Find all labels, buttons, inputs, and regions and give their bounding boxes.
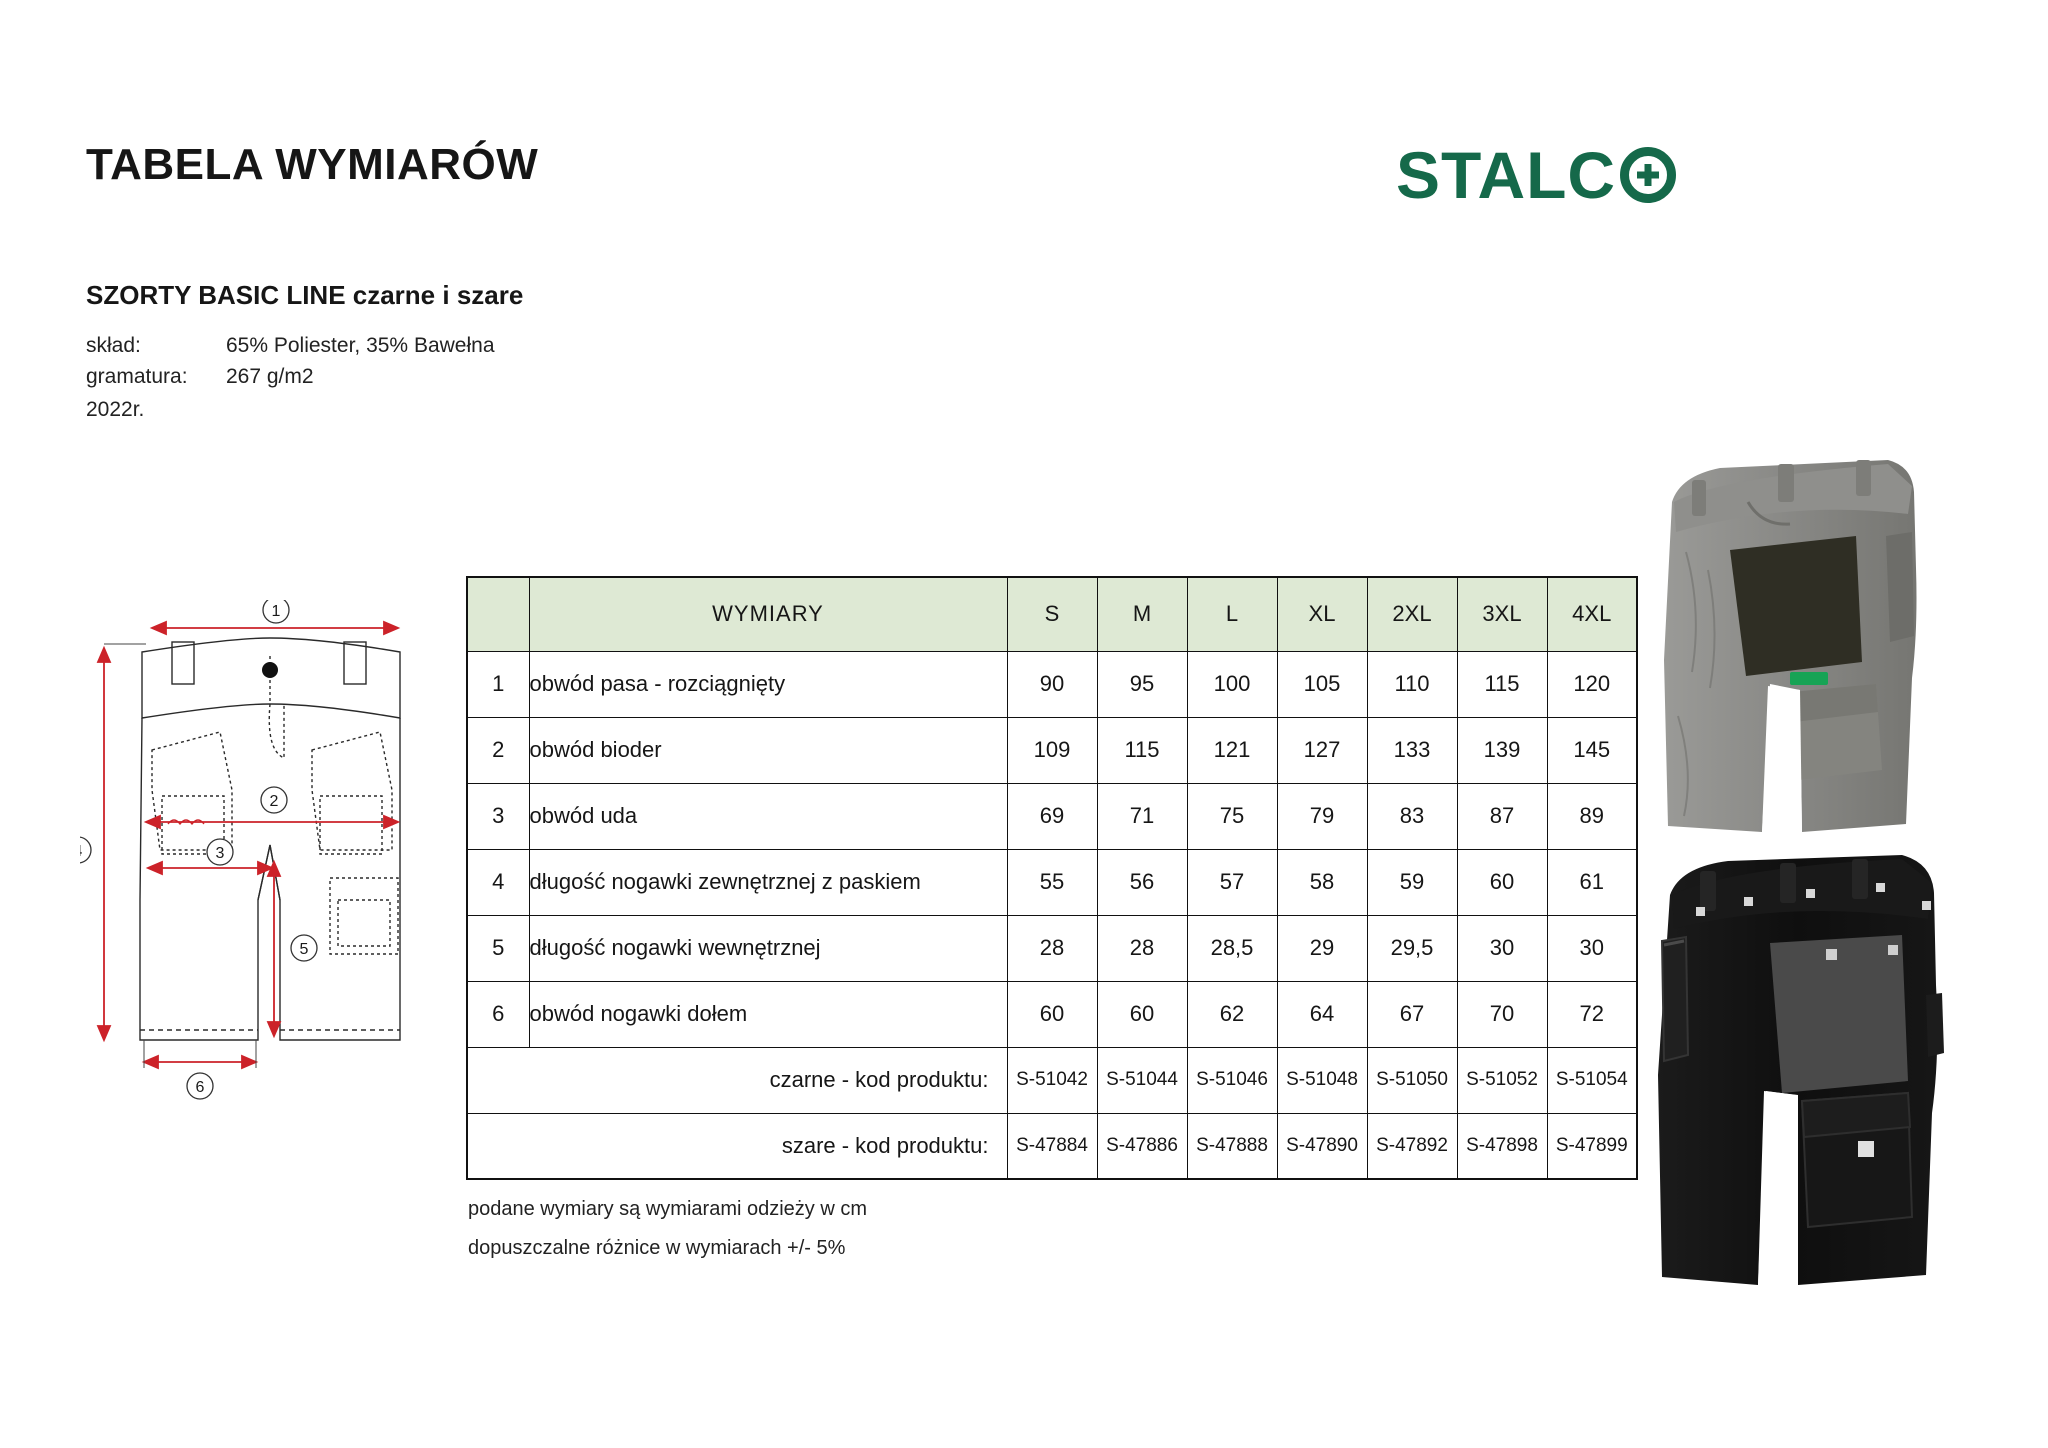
cell-xl: 127 bbox=[1277, 717, 1367, 783]
cell-3xl: 87 bbox=[1457, 783, 1547, 849]
cell-xl: 79 bbox=[1277, 783, 1367, 849]
cell-3xl: 139 bbox=[1457, 717, 1547, 783]
code-cell-l: S-47888 bbox=[1187, 1113, 1277, 1179]
row-description: obwód pasa - rozciągnięty bbox=[529, 651, 1007, 717]
cell-4xl: 120 bbox=[1547, 651, 1637, 717]
cell-m: 71 bbox=[1097, 783, 1187, 849]
cell-3xl: 70 bbox=[1457, 981, 1547, 1047]
callout-3: 3 bbox=[216, 845, 225, 862]
cell-xl: 29 bbox=[1277, 915, 1367, 981]
cell-4xl: 30 bbox=[1547, 915, 1637, 981]
cell-2xl: 110 bbox=[1367, 651, 1457, 717]
cell-xl: 58 bbox=[1277, 849, 1367, 915]
cell-2xl: 67 bbox=[1367, 981, 1457, 1047]
code-cell-s: S-47884 bbox=[1007, 1113, 1097, 1179]
footnote-tolerance: dopuszczalne różnice w wymiarach +/- 5% bbox=[468, 1229, 867, 1268]
cell-3xl: 60 bbox=[1457, 849, 1547, 915]
spec-value-year: 2022r. bbox=[86, 394, 144, 425]
cell-xl: 64 bbox=[1277, 981, 1367, 1047]
footnote-units: podane wymiary są wymiarami odzieży w cm bbox=[468, 1190, 867, 1229]
callout-6: 6 bbox=[196, 1079, 205, 1096]
size-table-head: WYMIARY S M L XL 2XL 3XL 4XL bbox=[467, 577, 1637, 651]
row-index: 1 bbox=[467, 651, 529, 717]
cell-2xl: 29,5 bbox=[1367, 915, 1457, 981]
product-code-row-gray: szare - kod produktu: S-47884 S-47886 S-… bbox=[467, 1113, 1637, 1179]
cell-m: 56 bbox=[1097, 849, 1187, 915]
row-description: obwód nogawki dołem bbox=[529, 981, 1007, 1047]
code-cell-3xl: S-51052 bbox=[1457, 1047, 1547, 1113]
row-description: długość nogawki zewnętrznej z paskiem bbox=[529, 849, 1007, 915]
logo-wordmark: STALC bbox=[1396, 142, 1616, 208]
code-cell-l: S-51046 bbox=[1187, 1047, 1277, 1113]
cell-2xl: 59 bbox=[1367, 849, 1457, 915]
table-row: 4 długość nogawki zewnętrznej z paskiem … bbox=[467, 849, 1637, 915]
spec-row-composition: skład: 65% Poliester, 35% Bawełna bbox=[86, 330, 495, 361]
header-cell-xl: XL bbox=[1277, 577, 1367, 651]
spec-label-composition: skład: bbox=[86, 330, 226, 361]
cell-m: 28 bbox=[1097, 915, 1187, 981]
code-cell-2xl: S-51050 bbox=[1367, 1047, 1457, 1113]
cell-s: 60 bbox=[1007, 981, 1097, 1047]
code-cell-xl: S-51048 bbox=[1277, 1047, 1367, 1113]
product-spec-list: skład: 65% Poliester, 35% Bawełna gramat… bbox=[86, 330, 495, 425]
row-index: 5 bbox=[467, 915, 529, 981]
cell-4xl: 61 bbox=[1547, 849, 1637, 915]
code-cell-m: S-47886 bbox=[1097, 1113, 1187, 1179]
table-row: 2 obwód bioder 109 115 121 127 133 139 1… bbox=[467, 717, 1637, 783]
code-cell-s: S-51042 bbox=[1007, 1047, 1097, 1113]
row-index: 4 bbox=[467, 849, 529, 915]
stalco-logo: STALC bbox=[1396, 142, 1676, 208]
cell-3xl: 30 bbox=[1457, 915, 1547, 981]
cell-l: 62 bbox=[1187, 981, 1277, 1047]
row-description: długość nogawki wewnętrznej bbox=[529, 915, 1007, 981]
spec-row-weight: gramatura: 267 g/m2 bbox=[86, 361, 495, 392]
code-row-label: szare - kod produktu: bbox=[467, 1113, 1007, 1179]
cell-m: 95 bbox=[1097, 651, 1187, 717]
header-cell-4xl: 4XL bbox=[1547, 577, 1637, 651]
code-cell-2xl: S-47892 bbox=[1367, 1113, 1457, 1179]
table-header-row: WYMIARY S M L XL 2XL 3XL 4XL bbox=[467, 577, 1637, 651]
table-row: 1 obwód pasa - rozciągnięty 90 95 100 10… bbox=[467, 651, 1637, 717]
row-index: 6 bbox=[467, 981, 529, 1047]
spec-value-weight: 267 g/m2 bbox=[226, 361, 314, 392]
size-table: WYMIARY S M L XL 2XL 3XL 4XL 1 obwód pas… bbox=[466, 576, 1638, 1180]
cell-l: 121 bbox=[1187, 717, 1277, 783]
cell-4xl: 89 bbox=[1547, 783, 1637, 849]
cell-s: 109 bbox=[1007, 717, 1097, 783]
callout-4: 4 bbox=[80, 843, 83, 860]
footnotes: podane wymiary są wymiarami odzieży w cm… bbox=[468, 1190, 867, 1268]
sizing-chart-page: TABELA WYMIARÓW SZORTY BASIC LINE czarne… bbox=[0, 0, 2048, 1448]
row-description: obwód uda bbox=[529, 783, 1007, 849]
table-row: 3 obwód uda 69 71 75 79 83 87 89 bbox=[467, 783, 1637, 849]
cell-2xl: 133 bbox=[1367, 717, 1457, 783]
product-title: SZORTY BASIC LINE czarne i szare bbox=[86, 280, 523, 311]
spec-label-weight: gramatura: bbox=[86, 361, 226, 392]
code-cell-3xl: S-47898 bbox=[1457, 1113, 1547, 1179]
code-cell-xl: S-47890 bbox=[1277, 1113, 1367, 1179]
header-cell-l: L bbox=[1187, 577, 1277, 651]
cell-l: 28,5 bbox=[1187, 915, 1277, 981]
header-cell-2xl: 2XL bbox=[1367, 577, 1457, 651]
cell-m: 60 bbox=[1097, 981, 1187, 1047]
code-cell-m: S-51044 bbox=[1097, 1047, 1187, 1113]
cell-s: 55 bbox=[1007, 849, 1097, 915]
spec-value-composition: 65% Poliester, 35% Bawełna bbox=[226, 330, 495, 361]
product-photo-black-shorts bbox=[1640, 845, 2000, 1305]
row-index: 3 bbox=[467, 783, 529, 849]
cell-l: 75 bbox=[1187, 783, 1277, 849]
product-code-row-black: czarne - kod produktu: S-51042 S-51044 S… bbox=[467, 1047, 1637, 1113]
product-photo-gray-shorts bbox=[1650, 440, 1990, 840]
cell-m: 115 bbox=[1097, 717, 1187, 783]
cell-2xl: 83 bbox=[1367, 783, 1457, 849]
cell-3xl: 115 bbox=[1457, 651, 1547, 717]
page-title: TABELA WYMIARÓW bbox=[86, 140, 538, 190]
cell-s: 90 bbox=[1007, 651, 1097, 717]
cell-4xl: 145 bbox=[1547, 717, 1637, 783]
technical-drawing: 1 2 3 4 5 6 bbox=[80, 600, 460, 1110]
callout-1: 1 bbox=[272, 603, 281, 620]
table-row: 6 obwód nogawki dołem 60 60 62 64 67 70 … bbox=[467, 981, 1637, 1047]
header-cell-m: M bbox=[1097, 577, 1187, 651]
cell-xl: 105 bbox=[1277, 651, 1367, 717]
row-index: 2 bbox=[467, 717, 529, 783]
code-cell-4xl: S-51054 bbox=[1547, 1047, 1637, 1113]
waist-button bbox=[262, 662, 278, 678]
header-cell-index bbox=[467, 577, 529, 651]
code-cell-4xl: S-47899 bbox=[1547, 1113, 1637, 1179]
size-table-body: 1 obwód pasa - rozciągnięty 90 95 100 10… bbox=[467, 651, 1637, 1179]
cell-s: 69 bbox=[1007, 783, 1097, 849]
header-cell-s: S bbox=[1007, 577, 1097, 651]
cell-l: 57 bbox=[1187, 849, 1277, 915]
circle-plus-icon bbox=[1620, 147, 1676, 203]
header-cell-3xl: 3XL bbox=[1457, 577, 1547, 651]
cell-l: 100 bbox=[1187, 651, 1277, 717]
row-description: obwód bioder bbox=[529, 717, 1007, 783]
callout-5: 5 bbox=[300, 941, 309, 958]
code-row-label: czarne - kod produktu: bbox=[467, 1047, 1007, 1113]
callout-2: 2 bbox=[270, 793, 279, 810]
header-cell-measurements: WYMIARY bbox=[529, 577, 1007, 651]
table-row: 5 długość nogawki wewnętrznej 28 28 28,5… bbox=[467, 915, 1637, 981]
spec-row-year: 2022r. bbox=[86, 394, 495, 425]
cell-4xl: 72 bbox=[1547, 981, 1637, 1047]
cell-s: 28 bbox=[1007, 915, 1097, 981]
